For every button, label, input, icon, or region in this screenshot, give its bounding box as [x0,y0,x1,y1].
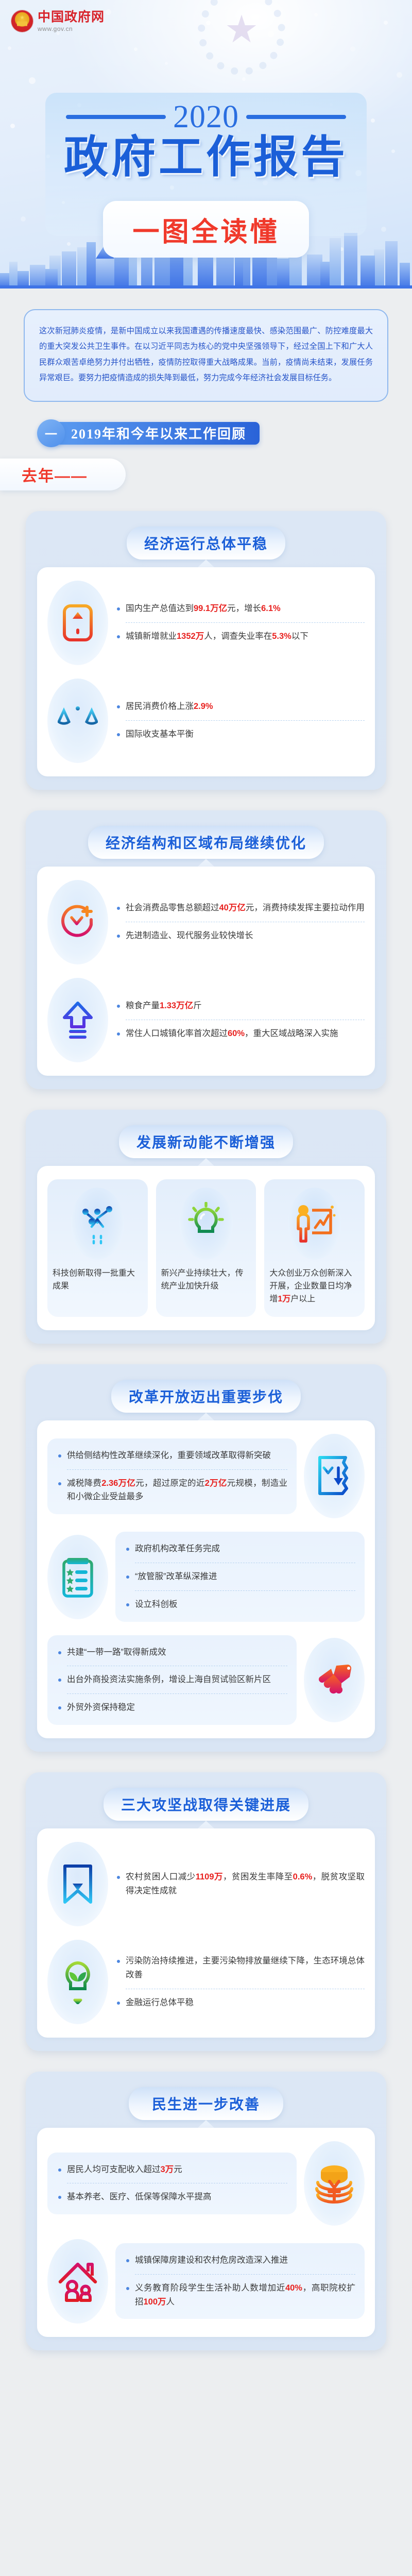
bullet-list: 政府机构改革任务完成“放管服”改革纵深推进设立科创板 [115,1532,365,1621]
circuit-tree-icon [71,1188,124,1260]
bullet-list: 国内生产总值达到99.1万亿元，增长6.1%城镇新增就业1352万人，调查失业率… [115,602,365,643]
bullet-list: 居民人均可支配收入超过3万元基本养老、医疗、低保等保障水平提高 [47,2153,297,2214]
block-panel: 社会消费品零售总额超过40万亿元，消费持续发挥主要拉动作用先进制造业、现代服务业… [37,867,375,1076]
bullet-item: 农村贫困人口减少1109万，贫困发生率降至0.6%，脱贫攻坚取得决定性成就 [115,1870,365,1897]
year-tag: 去年—— [0,459,126,490]
bullet-item: 常住人口城镇化率首次超过60%，重大区域战略深入实施 [115,1027,365,1041]
bullet-item: “放管服”改革纵深推进 [125,1570,355,1584]
group-spacer [47,1518,365,1532]
bullet-list: 农村贫困人口减少1109万，贫困发生率降至0.6%，脱贫攻坚取得决定性成就 [115,1870,365,1897]
bullet-item: 城镇保障房建设和农村危房改造深入推进 [125,2253,355,2267]
brand-url: www.gov.cn [38,26,105,32]
section-number: 一 [37,419,65,447]
bullet-list: 粮食产量1.33万亿斤常住人口城镇化率首次超过60%，重大区域战略深入实施 [115,999,365,1040]
block-title-label: 发展新动能不断增强 [136,1135,276,1151]
block-notch [198,1413,214,1420]
bullet-item: 出台外商投资法实施条例，增设上海自贸试验区新片区 [57,1673,287,1687]
content-block: 经济结构和区域布局继续优化 社会消费品零售总额超过40万亿元，消费持续发挥主要拉… [26,810,386,1089]
bullet-divider [67,2183,287,2183]
bullet-item: 义务教育阶段学生生活补助人数增加近40%，高职院校扩招100万人 [125,2281,355,2309]
block-title: 经济结构和区域布局继续优化 [88,826,324,859]
page-subtitle: 一图全读懂 [132,210,279,249]
block-panel: 科技创新取得一批重大成果 新兴产业持续壮大，传统产业加快升级 大众创业万众创新深… [37,1166,375,1331]
content-block: 改革开放迈出重要步伐 供给侧结构性改革继续深化，重要领域改革取得新突破减税降费2… [26,1364,386,1751]
block-notch [198,560,214,567]
feature-column-text: 新兴产业持续壮大，传统产业加快升级 [161,1267,251,1293]
hero-year: 2020 [173,101,239,133]
rule-right [246,115,346,119]
site-brand[interactable]: 中国政府网 www.gov.cn [11,10,105,32]
group-spacer [47,665,365,679]
content-blocks: 经济运行总体平稳 国内生产总值达到99.1万亿元，增长6.1%城镇新增就业135… [0,511,412,2378]
block-panel: 国内生产总值达到99.1万亿元，增长6.1%城镇新增就业1352万人，调查失业率… [37,567,375,776]
block-panel: 供给侧结构性改革继续深化，重要领域改革取得新突破减税降费2.36万亿元，超过原定… [37,1420,375,1738]
person-chart-icon [288,1188,341,1260]
block-title: 发展新动能不断增强 [119,1125,293,1158]
coin-stack-yuan-icon [304,2141,365,2226]
bullet-divider [135,1590,355,1591]
icon-bullet-row: 污染防治持续推进，主要污染物排放量继续下降，生态环境总体改善金融运行总体平稳 [47,1940,365,2024]
bullet-item: 国际收支基本平衡 [115,727,365,741]
block-notch [198,1158,214,1166]
icon-bullet-row: 粮食产量1.33万亿斤常住人口城镇化率首次超过60%，重大区域战略深入实施 [47,978,365,1062]
icon-bullet-row: 农村贫困人口减少1109万，贫困发生率降至0.6%，脱贫攻坚取得决定性成就 [47,1842,365,1926]
intro-card: 这次新冠肺炎疫情，是新中国成立以来我国遭遇的传播速度最快、感染范围最广、防控难度… [24,309,388,402]
bullet-list: 社会消费品零售总额超过40万亿元，消费持续发挥主要拉动作用先进制造业、现代服务业… [115,901,365,942]
icon-bullet-row: 共建“一带一路”取得新成效出台外商投资法实施条例，增设上海自贸试验区新片区外贸外… [47,1635,365,1725]
group-spacer [47,1926,365,1940]
bullet-list: 城镇保障房建设和农村危房改造深入推进义务教育阶段学生生活补助人数增加近40%，高… [115,2243,365,2319]
yuan-plus-icon [47,880,108,964]
bullet-item: 城镇新增就业1352万人，调查失业率在5.3%以下 [115,630,365,643]
bullet-divider [67,1666,287,1666]
bullet-item: 粮食产量1.33万亿斤 [115,999,365,1013]
bullet-item: 外贸外资保持稳定 [57,1701,287,1715]
bullet-list: 共建“一带一路”取得新成效出台外商投资法实施条例，增设上海自贸试验区新片区外贸外… [47,1635,297,1725]
column-group: 科技创新取得一批重大成果 新兴产业持续壮大，传统产业加快升级 大众创业万众创新深… [47,1179,365,1317]
block-title-label: 经济运行总体平稳 [144,536,268,552]
handshake-icon [304,1638,365,1722]
page-title: 政府工作报告 [0,135,412,179]
intro-section: 这次新冠肺炎疫情，是新中国成立以来我国遭遇的传播速度最快、感染范围最广、防控难度… [0,289,412,402]
section-title: 2019年和今年以来工作回顾 [71,423,246,443]
content-block: 经济运行总体平稳 国内生产总值达到99.1万亿元，增长6.1%城镇新增就业135… [26,511,386,790]
bullet-item: 国内生产总值达到99.1万亿元，增长6.1% [115,602,365,616]
block-panel: 农村贫困人口减少1109万，贫困发生率降至0.6%，脱贫攻坚取得决定性成就 污染… [37,1828,375,2038]
national-emblem-icon [11,10,33,32]
feature-column-text: 科技创新取得一批重大成果 [53,1267,143,1293]
bullet-item: 供给侧结构性改革继续深化，重要领域改革取得新突破 [57,1449,287,1463]
bullet-item: 先进制造业、现代服务业较快增长 [115,929,365,943]
block-title: 三大攻坚战取得关键进展 [104,1788,308,1821]
block-notch [198,1821,214,1828]
checklist-clipboard-icon [47,1535,108,1619]
icon-bullet-row: 居民消费价格上涨2.9%国际收支基本平衡 [47,679,365,763]
icon-bullet-row: 国内生产总值达到99.1万亿元，增长6.1%城镇新增就业1352万人，调查失业率… [47,581,365,665]
bullet-item: 共建“一带一路”取得新成效 [57,1646,287,1659]
section-title-bar: 2019年和今年以来工作回顾 [54,422,260,445]
section-header-wrap: 一 2019年和今年以来工作回顾 [0,402,412,447]
block-title: 经济运行总体平稳 [127,527,285,560]
brand-name: 中国政府网 [38,11,105,24]
lightbulb-icon [179,1188,233,1260]
feature-column: 科技创新取得一批重大成果 [47,1179,148,1317]
subtitle-pill: 一图全读懂 [103,201,309,258]
bullet-item: 设立科创板 [125,1598,355,1612]
bullet-item: 基本养老、医疗、低保等保障水平提高 [57,2190,287,2204]
feature-column: 大众创业万众创新深入开展，企业数量日均净增1万户以上 [264,1179,365,1317]
rule-left [66,115,166,119]
block-title: 改革开放迈出重要步伐 [111,1380,301,1413]
bullet-list: 居民消费价格上涨2.9%国际收支基本平衡 [115,700,365,741]
block-notch [198,859,214,867]
feature-column: 新兴产业持续壮大，传统产业加快升级 [156,1179,256,1317]
content-block: 三大攻坚战取得关键进展 农村贫困人口减少1109万，贫困发生率降至0.6%，脱贫… [26,1772,386,2051]
block-panel: 居民人均可支配收入超过3万元基本养老、医疗、低保等保障水平提高 城镇保障房建设和… [37,2128,375,2337]
icon-bullet-row: 城镇保障房建设和农村危房改造深入推进义务教育阶段学生生活补助人数增加近40%，高… [47,2239,365,2324]
group-spacer [47,1622,365,1635]
bullet-item: 社会消费品零售总额超过40万亿元，消费持续发挥主要拉动作用 [115,901,365,915]
bullet-divider [126,922,365,922]
icon-bullet-row: 政府机构改革任务完成“放管服”改革纵深推进设立科创板 [47,1532,365,1621]
year-tag-label: 去年—— [22,463,88,486]
content-block: 发展新动能不断增强 科技创新取得一批重大成果 新兴产业持续壮大，传统产业加快升级… [26,1110,386,1344]
icon-bullet-row: 居民人均可支配收入超过3万元基本养老、医疗、低保等保障水平提高 [47,2141,365,2226]
green-leaf-bulb-icon [47,1940,108,2024]
block-title-label: 经济结构和区域布局继续优化 [106,836,306,852]
bullet-divider [135,2274,355,2275]
hero-banner: ★ 中国政府网 www.gov.cn 2020 政府工作报告 一图全读懂 [0,0,412,289]
up-arrow-growth-icon [47,978,108,1062]
house-family-icon [47,2239,108,2324]
block-notch [198,2120,214,2128]
group-spacer [47,964,365,978]
down-arrow-bookmark-icon [47,1842,108,1926]
bullet-item: 居民人均可支配收入超过3万元 [57,2163,287,2177]
arrow-up-in-box-icon [47,581,108,665]
block-title-label: 民生进一步改善 [152,2097,260,2113]
feature-column-text: 大众创业万众创新深入开展，企业数量日均净增1万户以上 [269,1267,359,1306]
bullet-divider [126,622,365,623]
bullet-divider [67,1469,287,1470]
bullet-item: 居民消费价格上涨2.9% [115,700,365,714]
bullet-divider [135,1563,355,1563]
bullet-divider [67,1693,287,1694]
group-spacer [47,2226,365,2239]
bullet-item: 污染防治持续推进，主要污染物排放量继续下降，生态环境总体改善 [115,1954,365,1981]
block-title-label: 改革开放迈出重要步伐 [129,1389,283,1405]
bullet-divider [126,1020,365,1020]
bullet-divider [126,720,365,721]
balance-scale-icon [47,679,108,763]
intro-paragraph: 这次新冠肺炎疫情，是新中国成立以来我国遭遇的传播速度最快、感染范围最广、防控难度… [39,324,373,386]
hero-year-row: 2020 [0,101,412,133]
bullet-item: 金融运行总体平稳 [115,1996,365,2010]
national-emblem-watermark-icon: ★ [193,0,290,80]
section-header: 一 2019年和今年以来工作回顾 [37,419,260,447]
icon-bullet-row: 供给侧结构性改革继续深化，重要领域改革取得新突破减税降费2.36万亿元，超过原定… [47,1434,365,1518]
bullet-list: 供给侧结构性改革继续深化，重要领域改革取得新突破减税降费2.36万亿元，超过原定… [47,1438,297,1514]
block-title: 民生进一步改善 [129,2087,283,2120]
bullet-list: 污染防治持续推进，主要污染物排放量继续下降，生态环境总体改善金融运行总体平稳 [115,1954,365,2009]
block-title-label: 三大攻坚战取得关键进展 [121,1798,291,1814]
bullet-item: 政府机构改革任务完成 [125,1542,355,1556]
bullet-item: 减税降费2.36万亿元，超过原定的近2万亿元规模，制造业和小微企业受益最多 [57,1477,287,1504]
yuan-down-document-icon [304,1434,365,1518]
icon-bullet-row: 社会消费品零售总额超过40万亿元，消费持续发挥主要拉动作用先进制造业、现代服务业… [47,880,365,964]
content-block: 民生进一步改善 居民人均可支配收入超过3万元基本养老、医疗、低保等保障水平提高 … [26,2072,386,2350]
bullet-divider [126,1989,365,1989]
